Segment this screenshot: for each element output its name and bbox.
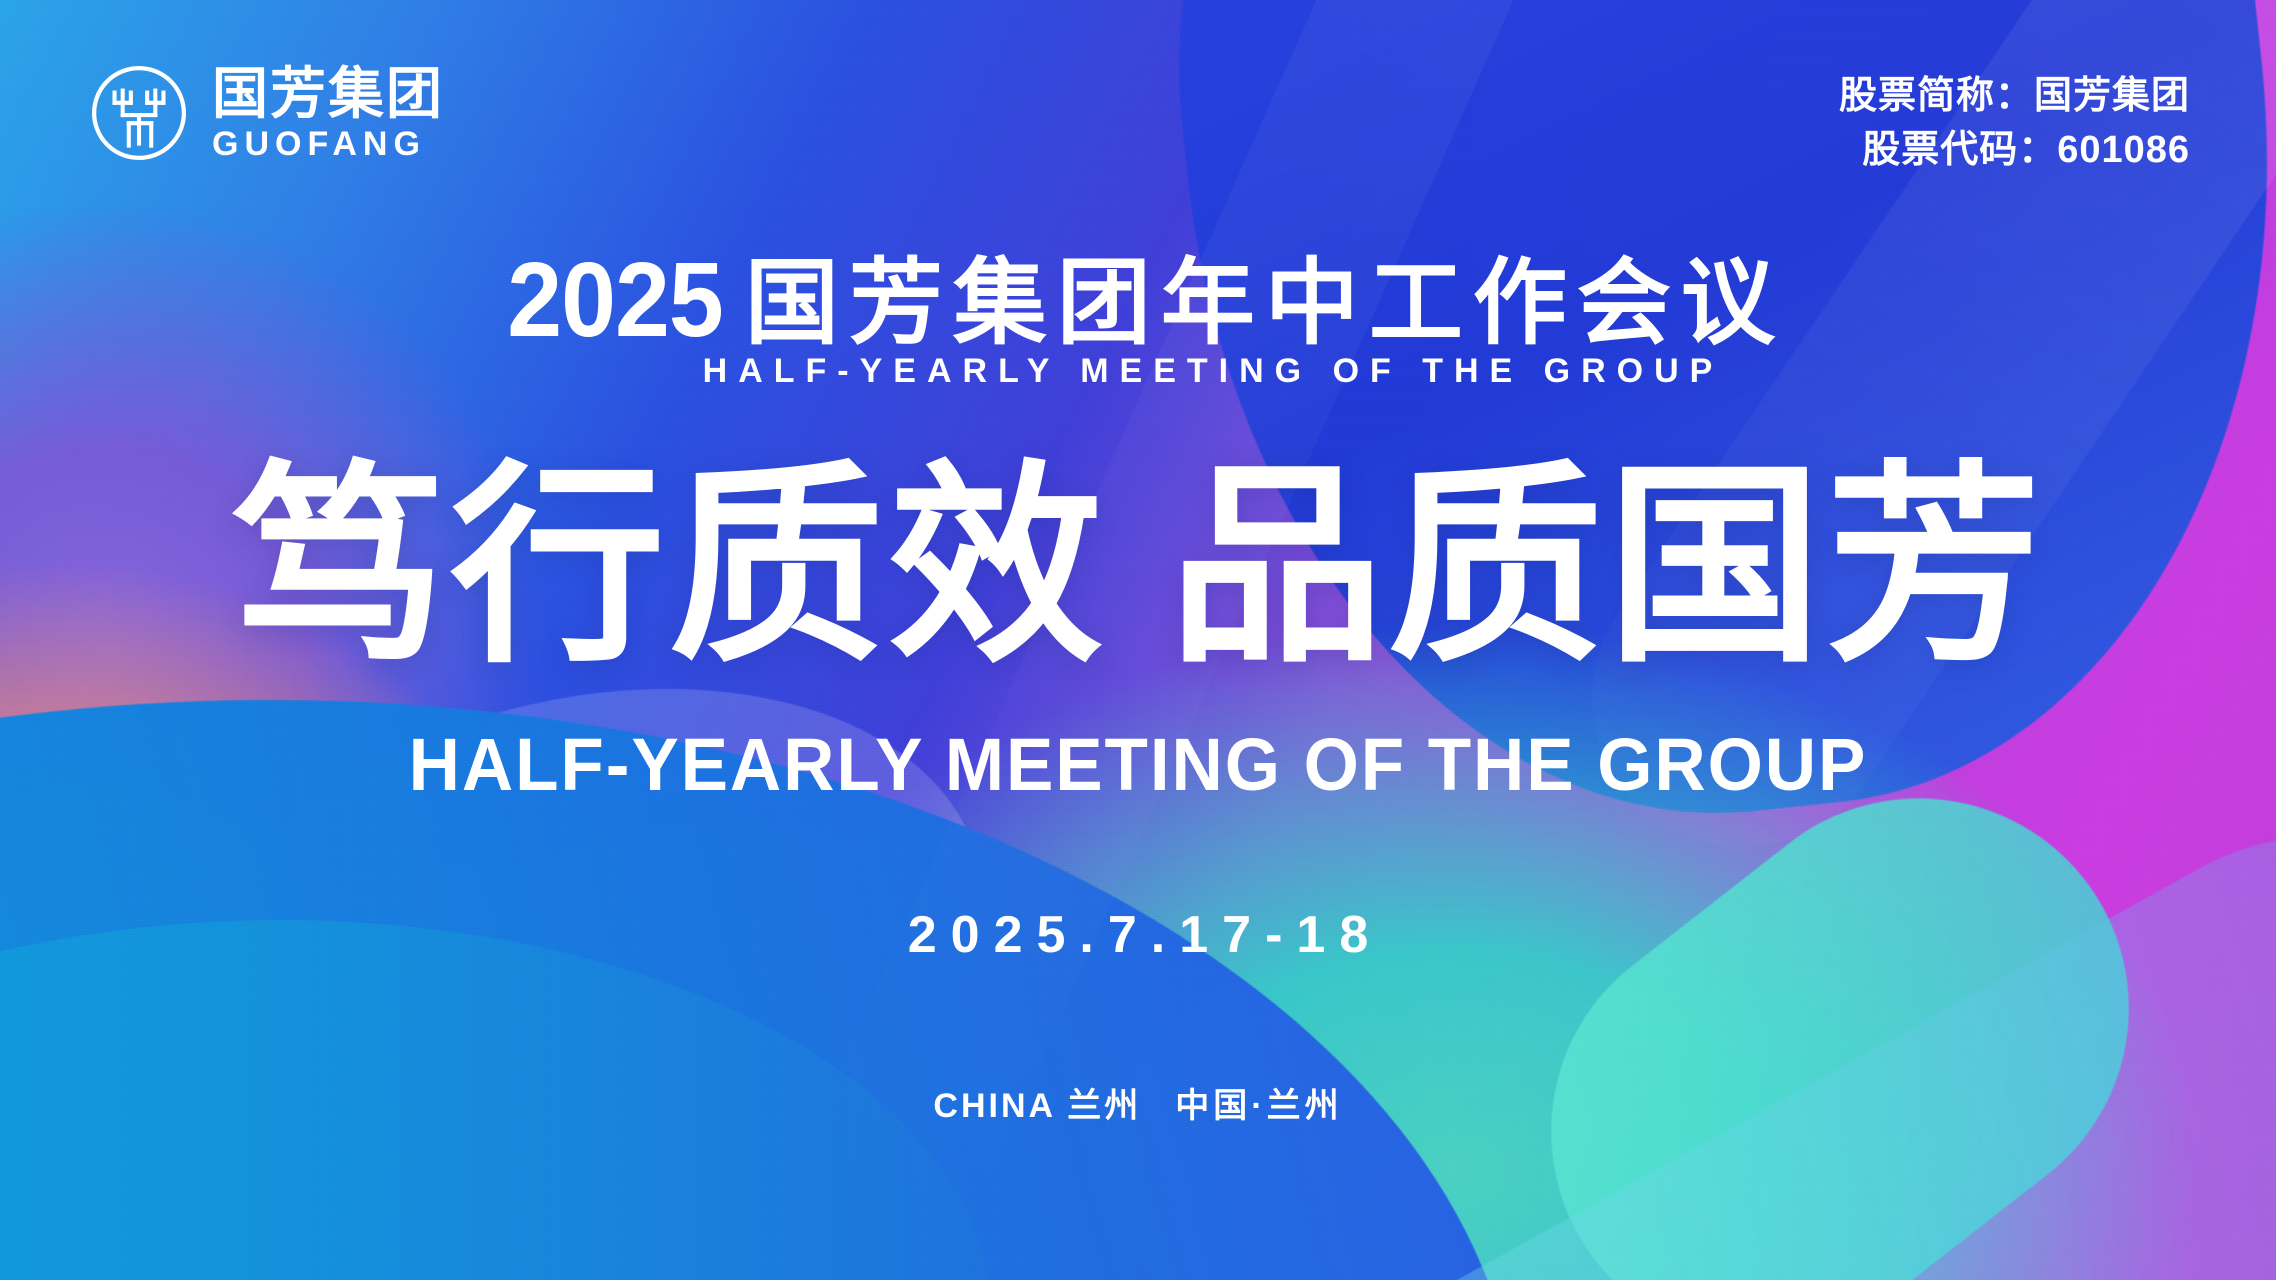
stock-name: 股票简称：国芳集团 bbox=[1839, 70, 2190, 124]
brand-name-cn: 国芳集团 bbox=[212, 66, 444, 122]
stock-info: 股票简称：国芳集团 股票代码：601086 bbox=[1839, 70, 2190, 178]
event-year: 2025 bbox=[507, 252, 723, 350]
event-location-cn: 中国·兰州 bbox=[1175, 1087, 1342, 1125]
brand-logo: 国芳集团 GUOFANG bbox=[88, 62, 444, 164]
brand-name-en: GUOFANG bbox=[212, 127, 444, 161]
event-location-en: CHINA 兰州 bbox=[933, 1087, 1141, 1125]
banner-content: 国芳集团 GUOFANG 股票简称：国芳集团 股票代码：601086 2025 … bbox=[0, 0, 2276, 1280]
event-date: 2025.7.17-18 bbox=[0, 905, 2276, 965]
event-location: CHINA 兰州中国·兰州 bbox=[0, 1078, 2276, 1127]
stock-code: 股票代码：601086 bbox=[1839, 124, 2190, 178]
event-title-row: 2025 国芳集团年中工作会议 bbox=[0, 252, 2276, 350]
hero-slogan-part2: 品质国芳 bbox=[1169, 446, 2045, 687]
event-title-cn: 国芳集团年中工作会议 bbox=[745, 256, 1785, 350]
conference-banner: 国芳集团 GUOFANG 股票简称：国芳集团 股票代码：601086 2025 … bbox=[0, 0, 2276, 1280]
hero-slogan: 笃行质效品质国芳 bbox=[0, 455, 2276, 679]
guofang-circle-emblem-icon bbox=[88, 62, 190, 164]
event-title-en: HALF-YEARLY MEETING OF THE GROUP bbox=[0, 352, 2276, 391]
hero-slogan-part1: 笃行质效 bbox=[231, 446, 1107, 687]
hero-slogan-en: HALF-YEARLY MEETING OF THE GROUP bbox=[46, 722, 2231, 807]
brand-logo-text: 国芳集团 GUOFANG bbox=[212, 66, 444, 161]
